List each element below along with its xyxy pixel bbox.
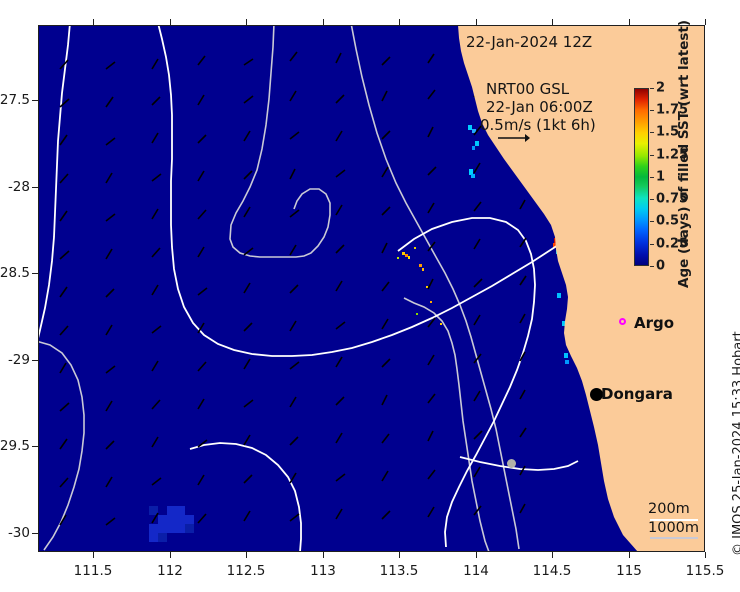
y-tick <box>32 446 38 447</box>
colorbar-tick <box>650 177 654 178</box>
y-tick <box>32 273 38 274</box>
x-tick-top <box>629 19 630 25</box>
colorbar-tick <box>650 155 654 156</box>
x-tick-top <box>246 19 247 25</box>
x-tick <box>705 552 706 558</box>
colorbar-gradient <box>634 88 649 266</box>
colorbar-label: 0 <box>656 259 665 274</box>
y-tick <box>32 533 38 534</box>
x-tick-label: 114 <box>463 563 489 579</box>
x-tick-top <box>93 19 94 25</box>
product-time-annotation: 22-Jan 06:00Z <box>486 98 593 116</box>
x-tick <box>93 552 94 558</box>
x-tick-top <box>476 19 477 25</box>
x-tick-top <box>552 19 553 25</box>
y-tick-label: -27.5 <box>0 92 30 108</box>
x-tick-top <box>399 19 400 25</box>
colorbar-tick <box>650 110 654 111</box>
scale-1000m-label: 1000m <box>648 520 699 536</box>
y-tick-label: -28 <box>0 179 30 195</box>
y-tick-label: -28.5 <box>0 265 30 281</box>
argo-marker-icon <box>619 318 626 325</box>
x-tick-top <box>170 19 171 25</box>
x-tick-label: 113.5 <box>380 563 419 579</box>
y-tick <box>32 360 38 361</box>
colorbar-label: 2 <box>656 81 665 96</box>
x-tick-label: 114.5 <box>533 563 572 579</box>
x-tick-label: 112.5 <box>227 563 266 579</box>
colorbar-title: Age (days) of filled SST (wrt latest) <box>676 20 692 288</box>
timestamp-annotation: 22-Jan-2024 12Z <box>466 33 592 51</box>
contour-1000m-swatch <box>650 537 698 539</box>
x-tick <box>399 552 400 558</box>
x-tick-label: 111.5 <box>74 563 113 579</box>
scale-200m-label: 200m <box>648 501 690 517</box>
x-tick-label: 113 <box>310 563 336 579</box>
y-tick-label: -29.5 <box>0 438 30 454</box>
y-tick <box>32 100 38 101</box>
y-tick-label: -30 <box>0 525 30 541</box>
argo-legend-label: Argo <box>634 314 674 332</box>
colorbar-tick <box>650 266 654 267</box>
x-tick <box>552 552 553 558</box>
colorbar-tick <box>650 88 654 89</box>
y-tick-label: -29 <box>0 352 30 368</box>
map-plot-area <box>38 25 705 552</box>
copyright-notice: © IMOS 25-Jan-2024 15:33 Hobart <box>731 331 740 556</box>
colorbar-tick <box>650 199 654 200</box>
contour-depth-legend: 200m 1000m <box>648 498 699 536</box>
y-tick <box>32 187 38 188</box>
colorbar-tick <box>650 244 654 245</box>
dongara-label: Dongara <box>601 385 673 403</box>
x-tick <box>476 552 477 558</box>
colorbar-tick <box>650 221 654 222</box>
x-tick <box>170 552 171 558</box>
colorbar-tick <box>650 132 654 133</box>
x-tick <box>246 552 247 558</box>
x-tick-top <box>705 19 706 25</box>
x-tick <box>629 552 630 558</box>
colorbar: 2 1.75 1.5 1.25 1 0.75 0.5 0.25 0 <box>634 88 649 266</box>
x-tick-label: 115.5 <box>686 563 725 579</box>
mooring-marker <box>507 459 516 468</box>
x-tick <box>323 552 324 558</box>
vector-scale-arrow-icon <box>497 132 531 144</box>
x-tick-top <box>323 19 324 25</box>
colorbar-label: 1 <box>656 170 665 185</box>
x-tick-label: 112 <box>157 563 183 579</box>
product-annotation: NRT00 GSL <box>486 80 569 98</box>
land-polygon <box>38 25 705 552</box>
contour-200m-swatch <box>650 519 698 521</box>
x-tick-label: 115 <box>616 563 642 579</box>
